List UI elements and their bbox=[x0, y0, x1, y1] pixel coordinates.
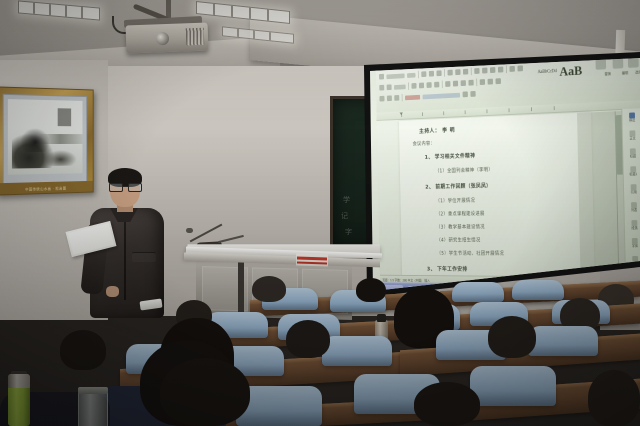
multilevel-list-icon[interactable] bbox=[463, 69, 468, 75]
attendee-head-row2-1 bbox=[60, 330, 106, 370]
painting-pine-tree bbox=[20, 128, 50, 152]
task-pane-label-7: 字体 bbox=[632, 244, 638, 248]
glass-tumbler bbox=[78, 390, 108, 426]
presenter-person bbox=[84, 168, 170, 318]
doc-section-1-number: 1、 bbox=[425, 153, 434, 161]
replace-label: 替换 bbox=[604, 71, 611, 76]
text-highlight-icon[interactable] bbox=[468, 80, 473, 86]
doc-section-3-heading: 下年工作安排 bbox=[437, 265, 467, 273]
underline-icon[interactable] bbox=[436, 70, 441, 76]
presenter-hand bbox=[106, 286, 119, 297]
sort-icon[interactable] bbox=[488, 79, 493, 85]
attendee-head-back-2 bbox=[356, 278, 386, 302]
painting-caption-text: 中国传统山水画 · 松岩图 bbox=[0, 185, 93, 193]
doc-host-line: 主持人： 李 明 bbox=[419, 126, 455, 135]
task-pane-label-3: 标题1 bbox=[629, 172, 637, 176]
paste-icon[interactable] bbox=[379, 85, 384, 91]
attendee-head-back-1 bbox=[252, 276, 286, 302]
border-icon[interactable] bbox=[480, 79, 485, 85]
word-application-window[interactable]: AaBbCcDd AaB 替换 编辑 选择 bbox=[376, 52, 640, 297]
doc-section-1-item-1: （1）全国列会精神（李明） bbox=[435, 166, 493, 174]
framed-landscape-painting: 中国传统山水画 · 松岩图 bbox=[0, 86, 94, 195]
numbered-list-icon[interactable] bbox=[455, 69, 460, 75]
grow-font-icon[interactable] bbox=[411, 83, 416, 89]
ribbon-divider-3 bbox=[471, 68, 472, 76]
align-right-icon[interactable] bbox=[490, 67, 495, 73]
task-pane-label-2: 标题 bbox=[630, 154, 636, 158]
word-document-page[interactable]: 主持人： 李 明 会议内容： 1、 学习相关文件精神 （1）全国列会精神（李明）… bbox=[399, 112, 595, 277]
doc-section-2-number: 2、 bbox=[425, 183, 434, 191]
styles-task-pane[interactable]: 样式 正文 标题 标题1 bbox=[621, 108, 640, 276]
doc-section-2-item-3: （3）教学基本建设情况 bbox=[436, 223, 485, 230]
green-thermos bbox=[8, 374, 30, 426]
edit-label: 编辑 bbox=[622, 70, 629, 75]
replace-icon[interactable] bbox=[596, 58, 607, 69]
style-sample-small: AaBbCcDd bbox=[537, 69, 556, 75]
change-case-icon[interactable] bbox=[427, 82, 432, 88]
ribbon-divider-5 bbox=[408, 82, 409, 89]
microphone-head bbox=[186, 228, 193, 233]
seat-row2-3 bbox=[322, 336, 392, 366]
help-icon[interactable] bbox=[463, 91, 468, 97]
chalk-mark-3: 字 bbox=[345, 227, 352, 237]
style-sample-heading: AaB bbox=[559, 63, 582, 77]
cut-icon[interactable] bbox=[387, 84, 392, 90]
seat-back-3 bbox=[452, 282, 504, 302]
format-painter-box[interactable] bbox=[394, 84, 406, 89]
task-pane-item-1[interactable]: 正文 bbox=[626, 130, 640, 141]
clear-format-icon[interactable] bbox=[434, 82, 439, 88]
doc-section-2-item-1: （1）学位开展情况 bbox=[436, 197, 476, 204]
task-pane-item-6[interactable]: 段落 bbox=[628, 220, 640, 231]
doc-section-2-heading: 前期工作回顾（张凤凤） bbox=[435, 181, 491, 190]
ribbon-divider-6 bbox=[442, 81, 443, 89]
seat-row2-5 bbox=[528, 326, 598, 356]
jacket-seam bbox=[124, 220, 126, 300]
indent-marker[interactable] bbox=[400, 112, 403, 115]
doc-section-2-item-5: （5）学生节活动、社团开展情况 bbox=[437, 250, 504, 257]
align-center-icon[interactable] bbox=[482, 68, 487, 74]
attendee-head-row2-3 bbox=[488, 316, 536, 358]
save-icon[interactable] bbox=[379, 96, 384, 102]
task-pane-item-0[interactable]: 样式 bbox=[625, 112, 639, 123]
classroom-photo-scene: 中国传统山水画 · 松岩图 学 记 字 bbox=[0, 0, 640, 426]
seat-back-4 bbox=[512, 280, 564, 300]
task-pane-item-5[interactable]: 列表 bbox=[627, 202, 640, 213]
task-pane-item-3[interactable]: 标题1 bbox=[626, 166, 640, 177]
doc-section-2-item-4: （4）研究生招生情况 bbox=[436, 237, 480, 244]
painting-seal bbox=[58, 108, 71, 126]
shading-icon[interactable] bbox=[517, 65, 523, 71]
align-left-icon[interactable] bbox=[474, 68, 479, 74]
painting-artwork bbox=[8, 99, 83, 175]
strikethrough-icon[interactable] bbox=[445, 81, 450, 87]
ribbon-divider-7 bbox=[476, 79, 477, 87]
seat-front-3 bbox=[470, 366, 556, 406]
task-pane-label-1: 正文 bbox=[629, 136, 635, 140]
lectern-leg bbox=[238, 258, 244, 320]
font-color-icon[interactable] bbox=[379, 74, 384, 80]
task-pane-label-6: 段落 bbox=[631, 226, 637, 230]
font-name-box[interactable] bbox=[386, 73, 404, 79]
task-pane-label-5: 列表 bbox=[631, 208, 637, 212]
ribbon-divider-8 bbox=[402, 94, 403, 101]
ribbon-divider-1 bbox=[418, 71, 419, 78]
projection-screen-surface[interactable]: AaBbCcDd AaB 替换 编辑 选择 bbox=[345, 52, 640, 297]
ceiling-projector bbox=[126, 23, 209, 54]
quick-access-field[interactable] bbox=[423, 92, 461, 99]
attendee-head-front-4 bbox=[588, 370, 640, 426]
tumbler-lid bbox=[78, 387, 108, 394]
presenter-glasses bbox=[109, 183, 141, 190]
doc-section-2-item-2: （2）重点课程建设进展 bbox=[436, 210, 485, 217]
minimize-ribbon-icon[interactable] bbox=[470, 91, 475, 97]
show-marks-icon[interactable] bbox=[496, 78, 501, 84]
undo-icon[interactable] bbox=[387, 95, 392, 101]
task-pane-label-4: 引用 bbox=[631, 190, 637, 194]
doc-section-1-heading: 学习相关文件精神 bbox=[435, 152, 476, 161]
select-label: 选择 bbox=[635, 69, 640, 74]
bottle-cap bbox=[377, 314, 386, 322]
doc-section-3-number: 3、 bbox=[427, 265, 436, 273]
bold-icon[interactable] bbox=[421, 71, 426, 77]
document-right-margin bbox=[577, 111, 618, 275]
projector-lens bbox=[156, 32, 169, 45]
chalk-mark-1: 学 bbox=[343, 195, 350, 205]
chalk-mark-2: 记 bbox=[341, 211, 348, 221]
justify-icon[interactable] bbox=[498, 67, 503, 73]
task-pane-label-0: 样式 bbox=[629, 118, 635, 122]
jacket-pocket bbox=[132, 252, 156, 262]
painting-mat bbox=[3, 94, 87, 188]
line-spacing-icon[interactable] bbox=[509, 66, 514, 72]
italic-icon[interactable] bbox=[429, 71, 434, 77]
painting-caption-bar: 中国传统山水画 · 松岩图 bbox=[0, 181, 93, 195]
task-pane-item-4[interactable]: 引用 bbox=[627, 184, 640, 195]
superscript-icon[interactable] bbox=[461, 80, 466, 86]
task-pane-item-7[interactable]: 字体 bbox=[628, 238, 640, 249]
bullet-list-icon[interactable] bbox=[448, 70, 453, 76]
shrink-font-icon[interactable] bbox=[419, 83, 424, 89]
attendee-head-row2-2 bbox=[286, 320, 330, 358]
subscript-icon[interactable] bbox=[453, 81, 458, 87]
attendee-head-front-2 bbox=[160, 358, 250, 426]
ribbon-divider-2 bbox=[444, 69, 445, 77]
ribbon-divider-4 bbox=[506, 65, 507, 73]
attendee-head-front-3 bbox=[414, 382, 480, 426]
doc-content-label: 会议内容： bbox=[413, 140, 435, 147]
red-label-box bbox=[296, 253, 328, 266]
thermos-cap bbox=[8, 374, 30, 388]
projector-vent bbox=[186, 28, 205, 46]
record-macro-box[interactable] bbox=[405, 94, 420, 99]
redo-icon[interactable] bbox=[394, 95, 399, 101]
task-pane-item-2[interactable]: 标题 bbox=[626, 148, 640, 159]
font-size-box[interactable] bbox=[407, 72, 415, 77]
